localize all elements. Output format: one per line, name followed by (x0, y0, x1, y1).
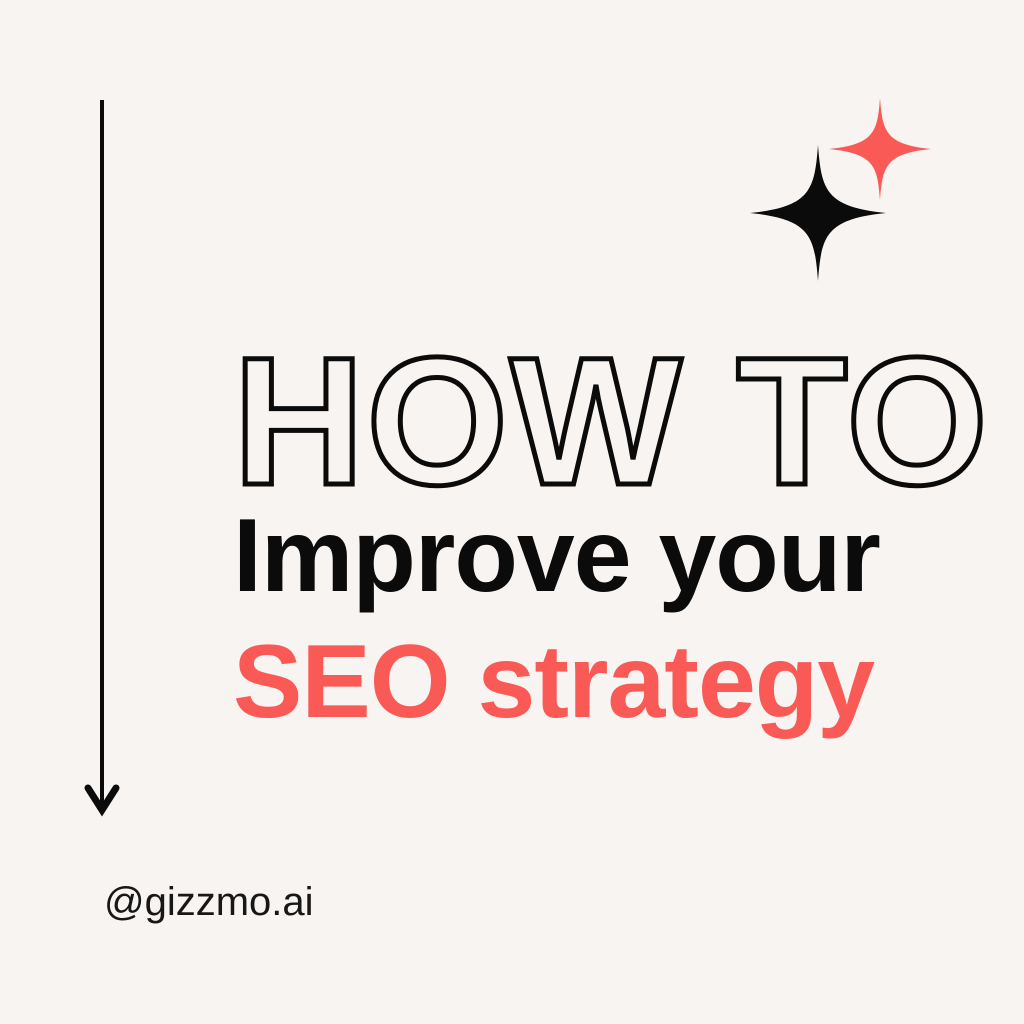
headline-eyebrow: HOW TO (233, 330, 993, 498)
headline-line-three: SEO strategy (233, 630, 993, 742)
poster-canvas: HOW TO Improve your SEO strategy @gizzmo… (0, 0, 1024, 1024)
brand-handle: @gizzmo.ai (104, 880, 314, 925)
headline-block: HOW TO Improve your SEO strategy (233, 330, 993, 742)
sparkle-black-icon (750, 144, 886, 282)
downward-arrow (86, 98, 118, 818)
